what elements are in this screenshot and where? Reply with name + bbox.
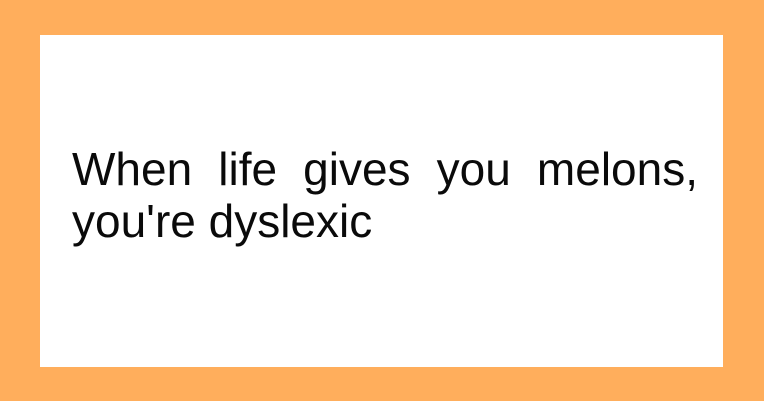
meme-word-life: life — [218, 143, 277, 195]
meme-text-block: When life gives you melons, you're dysle… — [72, 143, 698, 247]
meme-text-line-2: you're dyslexic — [72, 195, 698, 247]
meme-word-you: you — [437, 143, 511, 195]
meme-word-gives: gives — [303, 143, 410, 195]
meme-card: When life gives you melons, you're dysle… — [40, 35, 723, 367]
meme-text-line-1: When life gives you melons, — [72, 143, 698, 195]
meme-word-melons: melons, — [537, 143, 698, 195]
meme-word-when: When — [72, 143, 192, 195]
meme-canvas: When life gives you melons, you're dysle… — [0, 0, 764, 401]
